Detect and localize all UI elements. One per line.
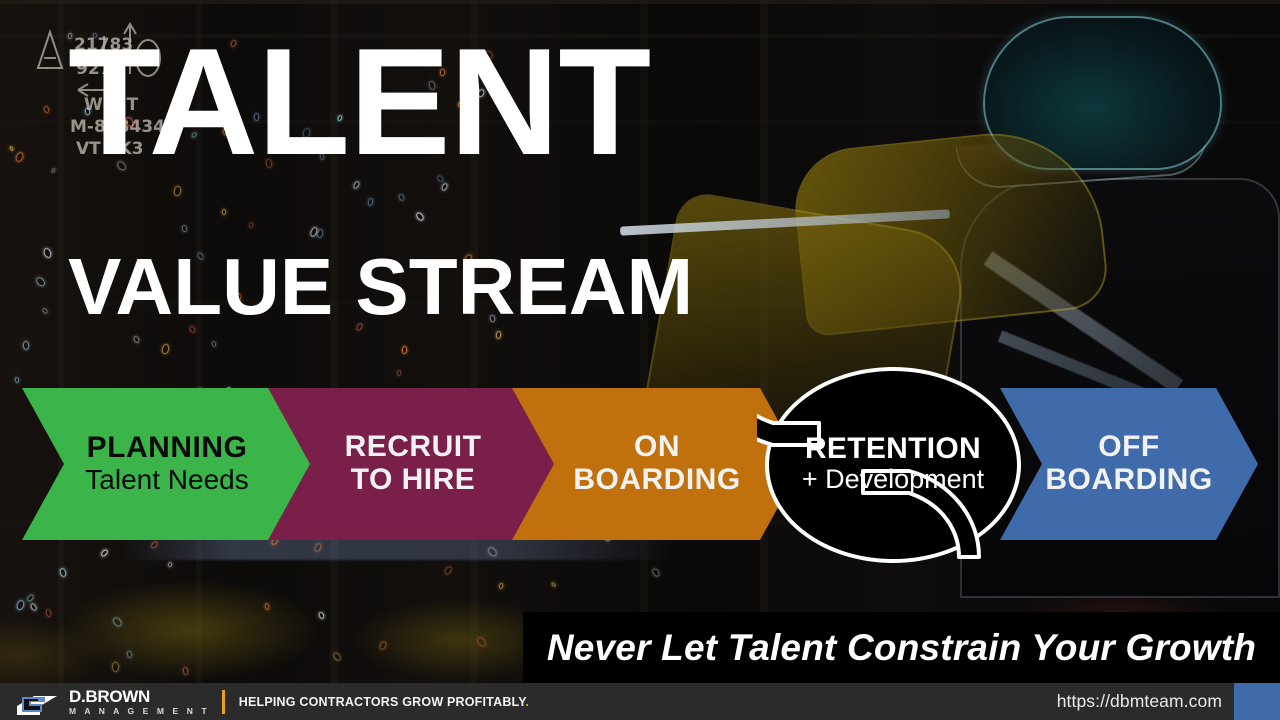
brand-subname: M A N A G E M E N T bbox=[69, 707, 210, 716]
circular-arrows-icon bbox=[757, 345, 1029, 583]
spark-particle bbox=[318, 611, 325, 620]
spark-particle bbox=[496, 331, 502, 339]
footer-tagline: HELPING CONTRACTORS GROW PROFITABLY. bbox=[239, 695, 529, 709]
spark-particle bbox=[112, 662, 119, 673]
dbrown-logo-icon bbox=[14, 686, 60, 718]
tagline-band: Never Let Talent Constrain Your Growth bbox=[523, 612, 1280, 683]
spark-particle bbox=[487, 546, 498, 558]
process-stage-onboarding-line1: ON bbox=[634, 431, 680, 463]
spark-particle bbox=[222, 209, 227, 216]
tagline-text: Never Let Talent Constrain Your Growth bbox=[547, 627, 1256, 669]
spark-particle bbox=[182, 225, 188, 233]
page-title: TALENT bbox=[68, 26, 650, 178]
spark-particle bbox=[498, 583, 503, 590]
spark-particle bbox=[173, 186, 181, 197]
spark-particle bbox=[402, 346, 408, 354]
process-stage-recruit[interactable]: RECRUITTO HIRE bbox=[268, 388, 558, 540]
talent-value-stream-process: PLANNINGTalent NeedsRECRUITTO HIREONBOAR… bbox=[0, 388, 1280, 540]
spark-particle bbox=[316, 228, 324, 238]
spark-particle bbox=[9, 146, 14, 152]
spark-particle bbox=[161, 343, 170, 354]
process-stage-offboarding-line1: OFF bbox=[1098, 431, 1160, 463]
spark-particle bbox=[15, 599, 25, 610]
footer-accent-block bbox=[1234, 683, 1280, 720]
spark-particle bbox=[59, 567, 68, 578]
spark-particle bbox=[551, 582, 557, 588]
spark-particle bbox=[43, 105, 50, 113]
spark-particle bbox=[132, 335, 140, 343]
footer-url[interactable]: https://dbmteam.com bbox=[1057, 691, 1222, 712]
process-stage-planning-line1: PLANNING bbox=[87, 432, 248, 464]
process-stage-offboarding-line2: BOARDING bbox=[1045, 463, 1212, 497]
footer-divider bbox=[222, 690, 225, 714]
page-subtitle: VALUE STREAM bbox=[68, 247, 693, 327]
spark-particle bbox=[397, 370, 402, 376]
spark-particle bbox=[211, 341, 216, 348]
spark-particle bbox=[14, 151, 25, 163]
spark-particle bbox=[45, 608, 52, 617]
footer-bar: D.BROWN M A N A G E M E N T HELPING CONT… bbox=[0, 683, 1280, 720]
spark-particle bbox=[51, 168, 56, 174]
process-stage-recruit-line1: RECRUIT bbox=[345, 431, 482, 463]
spark-particle bbox=[23, 341, 30, 351]
spark-particle bbox=[332, 651, 342, 662]
spark-particle bbox=[111, 616, 123, 628]
spark-particle bbox=[378, 640, 388, 651]
brand-logo[interactable]: D.BROWN M A N A G E M E N T bbox=[14, 686, 210, 718]
footer-tagline-dot: . bbox=[525, 695, 529, 709]
spark-particle bbox=[168, 562, 172, 568]
spark-particle bbox=[264, 603, 270, 611]
spark-particle bbox=[29, 602, 37, 611]
spark-particle bbox=[150, 540, 159, 549]
spark-particle bbox=[415, 211, 426, 222]
process-stage-planning[interactable]: PLANNINGTalent Needs bbox=[22, 388, 312, 540]
slide-canvas: 21783 9276 WEST M-808434 VT 0K3 TALENT V… bbox=[0, 0, 1280, 720]
spark-particle bbox=[398, 193, 405, 201]
spark-particle bbox=[182, 667, 188, 675]
spark-particle bbox=[126, 651, 132, 659]
spark-particle bbox=[248, 222, 254, 229]
process-stage-planning-line2: Talent Needs bbox=[85, 464, 248, 495]
spark-particle bbox=[367, 198, 374, 207]
spark-particle bbox=[35, 276, 46, 287]
process-stage-onboarding-line2: BOARDING bbox=[573, 463, 740, 497]
footer-tagline-text: HELPING CONTRACTORS GROW PROFITABLY bbox=[239, 695, 526, 709]
spark-particle bbox=[26, 593, 35, 602]
spark-particle bbox=[476, 636, 487, 648]
process-stage-recruit-line2: TO HIRE bbox=[351, 463, 476, 497]
spark-particle bbox=[313, 542, 322, 553]
spark-particle bbox=[42, 307, 48, 314]
retention-cycle[interactable]: RETENTION + Development bbox=[757, 345, 1029, 583]
spark-particle bbox=[14, 377, 20, 384]
spark-particle bbox=[443, 565, 454, 576]
spark-particle bbox=[651, 567, 662, 578]
brand-name: D.BROWN bbox=[69, 688, 210, 705]
spark-particle bbox=[100, 548, 109, 557]
spark-particle bbox=[42, 247, 52, 259]
brand-logo-text: D.BROWN M A N A G E M E N T bbox=[69, 688, 210, 716]
